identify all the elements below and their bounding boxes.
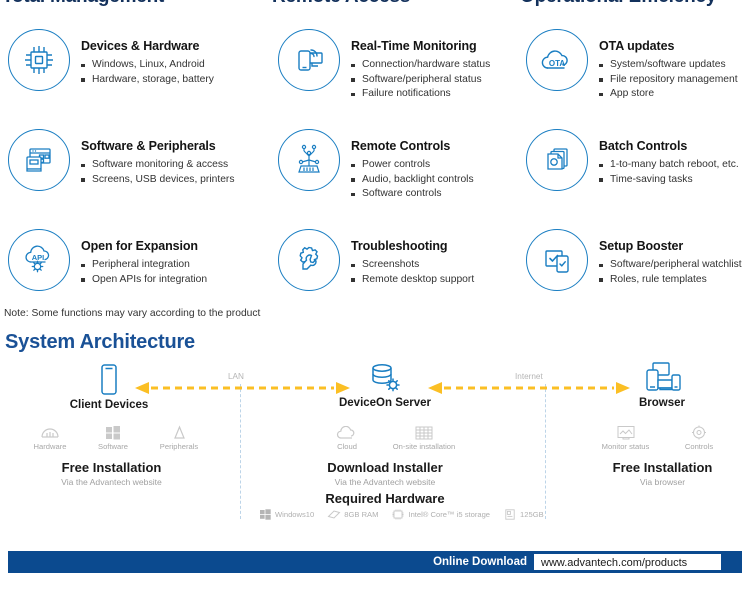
controls-icon [663, 422, 735, 440]
poster-page: Total Management Remote Access Operation… [0, 0, 750, 591]
hardware-item-label: 8GB RAM [344, 510, 378, 519]
feature-body: Software & Peripherals Software monitori… [70, 128, 235, 187]
feature-card-devices-hardware: Devices & Hardware Windows, Linux, Andro… [0, 28, 250, 128]
feature-bullet: Failure notifications [351, 87, 490, 102]
circuit-controls-icon [278, 129, 340, 191]
client-install-title: Free Installation [24, 460, 199, 475]
gear-wrench-icon [278, 229, 340, 291]
online-download-url[interactable]: www.advantech.com/products [534, 554, 721, 570]
storage-icon [503, 508, 517, 521]
feature-card-remote-controls: Remote Controls Power controls Audio, ba… [250, 128, 500, 228]
feature-bullet: Open APIs for integration [81, 273, 207, 288]
feature-bullet: Peripheral integration [81, 258, 207, 273]
internet-label: Internet [515, 372, 543, 381]
api-cloud-gear-icon: API [8, 229, 70, 291]
hardware-icon [18, 422, 82, 440]
feature-title: Setup Booster [599, 239, 742, 253]
column-heading-total-management: Total Management [0, 0, 250, 8]
hardware-item-storage: 125GB [503, 508, 544, 521]
server-installer-sub: Via the Advantech website [290, 477, 480, 487]
feature-title: Devices & Hardware [81, 39, 214, 53]
feature-bullet: System/software updates [599, 58, 738, 73]
lan-label: LAN [228, 372, 244, 381]
svg-text:OTA: OTA [549, 59, 566, 68]
feature-body: Troubleshooting Screenshots Remote deskt… [340, 228, 474, 287]
feature-bullets: 1-to-many batch reboot, etc. Time-saving… [599, 158, 739, 187]
feature-body: Remote Controls Power controls Audio, ba… [340, 128, 474, 202]
hardware-item-cpu: Intel® Core™ i5 storage [391, 508, 490, 521]
hardware-item-label: Intel® Core™ i5 storage [408, 510, 490, 519]
internet-link-arrow [428, 380, 630, 396]
feature-bullets: Screenshots Remote desktop support [351, 258, 474, 287]
chip-icon [8, 29, 70, 91]
hardware-item-ram: 8GB RAM [327, 508, 378, 521]
feature-bullet: Software/peripheral status [351, 73, 490, 88]
server-subicons: Cloud On-site installation [318, 422, 472, 451]
feature-bullets: Connection/hardware status Software/peri… [351, 58, 490, 102]
subicon-label: Hardware [18, 442, 82, 451]
feature-bullets: Windows, Linux, Android Hardware, storag… [81, 58, 214, 87]
svg-text:API: API [32, 253, 45, 262]
subicon-label: Cloud [318, 442, 376, 451]
feature-body: OTA updates System/software updates File… [588, 28, 738, 102]
column-heading-remote-access: Remote Access [250, 0, 500, 8]
peripherals-icon [144, 422, 214, 440]
system-architecture-title: System Architecture [5, 331, 195, 354]
hardware-item-label: 125GB [520, 510, 544, 519]
feature-bullet: Screens, USB devices, printers [81, 173, 235, 188]
feature-bullet: Time-saving tasks [599, 173, 739, 188]
feature-bullets: Power controls Audio, backlight controls… [351, 158, 474, 202]
node-label: Client Devices [59, 399, 159, 411]
node-label: Browser [612, 397, 712, 409]
subicon-onsite-installation: On-site installation [376, 422, 472, 451]
column-heading-operational-efficiency: Operational Efficiency [500, 0, 750, 8]
feature-bullet: Audio, backlight controls [351, 173, 474, 188]
feature-body: Setup Booster Software/peripheral watchl… [588, 228, 742, 287]
feature-bullet: Connection/hardware status [351, 58, 490, 73]
subicon-label: Controls [663, 442, 735, 451]
hardware-item-label: Windows10 [275, 510, 314, 519]
database-gear-icon [330, 360, 440, 394]
feature-title: Software & Peripherals [81, 139, 235, 153]
onsite-building-icon [376, 422, 472, 440]
browser-install-sub: Via browser [575, 477, 750, 487]
feature-bullets: Software/peripheral watchlist Roles, rul… [599, 258, 742, 287]
server-installer-title: Download Installer [290, 460, 480, 475]
feature-bullet: 1-to-many batch reboot, etc. [599, 158, 739, 173]
feature-bullet: Power controls [351, 158, 474, 173]
feature-bullets: Software monitoring & access Screens, US… [81, 158, 235, 187]
required-hardware-title: Required Hardware [290, 491, 480, 506]
tablet-icon [59, 362, 159, 396]
node-label: DeviceOn Server [330, 397, 440, 409]
feature-title: Open for Expansion [81, 239, 207, 253]
feature-body: Devices & Hardware Windows, Linux, Andro… [70, 28, 214, 87]
feature-bullet: Screenshots [351, 258, 474, 273]
subicon-controls: Controls [663, 422, 735, 451]
subicon-label: Peripherals [144, 442, 214, 451]
software-peripherals-icon [8, 129, 70, 191]
software-icon [82, 422, 144, 440]
ota-cloud-icon: OTA [526, 29, 588, 91]
online-download-label: Online Download [433, 556, 527, 568]
feature-card-troubleshooting: Troubleshooting Screenshots Remote deskt… [250, 228, 500, 328]
subicon-label: Monitor status [588, 442, 663, 451]
cpu-icon [391, 508, 405, 521]
required-hardware-list: Windows10 8GB RAM Intel® Core™ i5 sto [258, 508, 557, 521]
divider-right [545, 384, 546, 519]
column-headings: Total Management Remote Access Operation… [0, 0, 750, 8]
feature-title: Batch Controls [599, 139, 739, 153]
required-hardware-block: Required Hardware [290, 491, 480, 506]
ram-icon [327, 508, 341, 521]
cloud-icon [318, 422, 376, 440]
feature-bullet: Hardware, storage, battery [81, 73, 214, 88]
feature-title: Remote Controls [351, 139, 474, 153]
feature-card-batch-controls: Batch Controls 1-to-many batch reboot, e… [500, 128, 750, 228]
node-client-devices: Client Devices [59, 362, 159, 411]
feature-bullets: Peripheral integration Open APIs for int… [81, 258, 207, 287]
feature-card-real-time-monitoring: Real-Time Monitoring Connection/hardware… [250, 28, 500, 128]
feature-grid: Devices & Hardware Windows, Linux, Andro… [0, 28, 750, 328]
feature-card-ota-updates: OTA OTA updates System/software updates … [500, 28, 750, 128]
feature-body: Real-Time Monitoring Connection/hardware… [340, 28, 490, 102]
feature-bullet: Software controls [351, 187, 474, 202]
feature-card-software-peripherals: Software & Peripherals Software monitori… [0, 128, 250, 228]
feature-bullet: Roles, rule templates [599, 273, 742, 288]
feature-bullet: App store [599, 87, 738, 102]
browser-subicons: Monitor status Controls [588, 422, 735, 451]
architecture-diagram: LAN Internet Client Devices [0, 360, 750, 535]
subicon-software: Software [82, 422, 144, 451]
subicon-hardware: Hardware [18, 422, 82, 451]
monitor-status-icon [588, 422, 663, 440]
realtime-monitor-icon [278, 29, 340, 91]
feature-bullets: System/software updates File repository … [599, 58, 738, 102]
batch-documents-icon [526, 129, 588, 191]
feature-title: Real-Time Monitoring [351, 39, 490, 53]
feature-bullet: Software/peripheral watchlist [599, 258, 742, 273]
client-subicons: Hardware Software Peripherals [18, 422, 214, 451]
feature-bullet: Windows, Linux, Android [81, 58, 214, 73]
node-browser: Browser [612, 360, 712, 409]
feature-title: OTA updates [599, 39, 738, 53]
hardware-item-windows: Windows10 [258, 508, 314, 521]
subicon-label: On-site installation [376, 442, 472, 451]
feature-card-setup-booster: Setup Booster Software/peripheral watchl… [500, 228, 750, 328]
feature-bullet: File repository management [599, 73, 738, 88]
checklist-devices-icon [526, 229, 588, 291]
subicon-peripherals: Peripherals [144, 422, 214, 451]
product-note: Note: Some functions may vary according … [4, 308, 260, 319]
feature-body: Batch Controls 1-to-many batch reboot, e… [588, 128, 739, 187]
feature-bullet: Software monitoring & access [81, 158, 235, 173]
server-installer-block: Download Installer Via the Advantech web… [290, 460, 480, 487]
browser-install-title: Free Installation [575, 460, 750, 475]
windows-icon [258, 508, 272, 521]
multi-device-browser-icon [612, 360, 712, 394]
footer-bar: Online Download www.advantech.com/produc… [8, 551, 742, 573]
subicon-cloud: Cloud [318, 422, 376, 451]
feature-body: Open for Expansion Peripheral integratio… [70, 228, 207, 287]
feature-bullet: Remote desktop support [351, 273, 474, 288]
subicon-monitor-status: Monitor status [588, 422, 663, 451]
subicon-label: Software [82, 442, 144, 451]
node-deviceon-server: DeviceOn Server [330, 360, 440, 409]
client-install-block: Free Installation Via the Advantech webs… [24, 460, 199, 487]
lan-link-arrow [135, 380, 350, 396]
feature-title: Troubleshooting [351, 239, 474, 253]
browser-install-block: Free Installation Via browser [575, 460, 750, 487]
divider-left [240, 384, 241, 519]
client-install-sub: Via the Advantech website [24, 477, 199, 487]
